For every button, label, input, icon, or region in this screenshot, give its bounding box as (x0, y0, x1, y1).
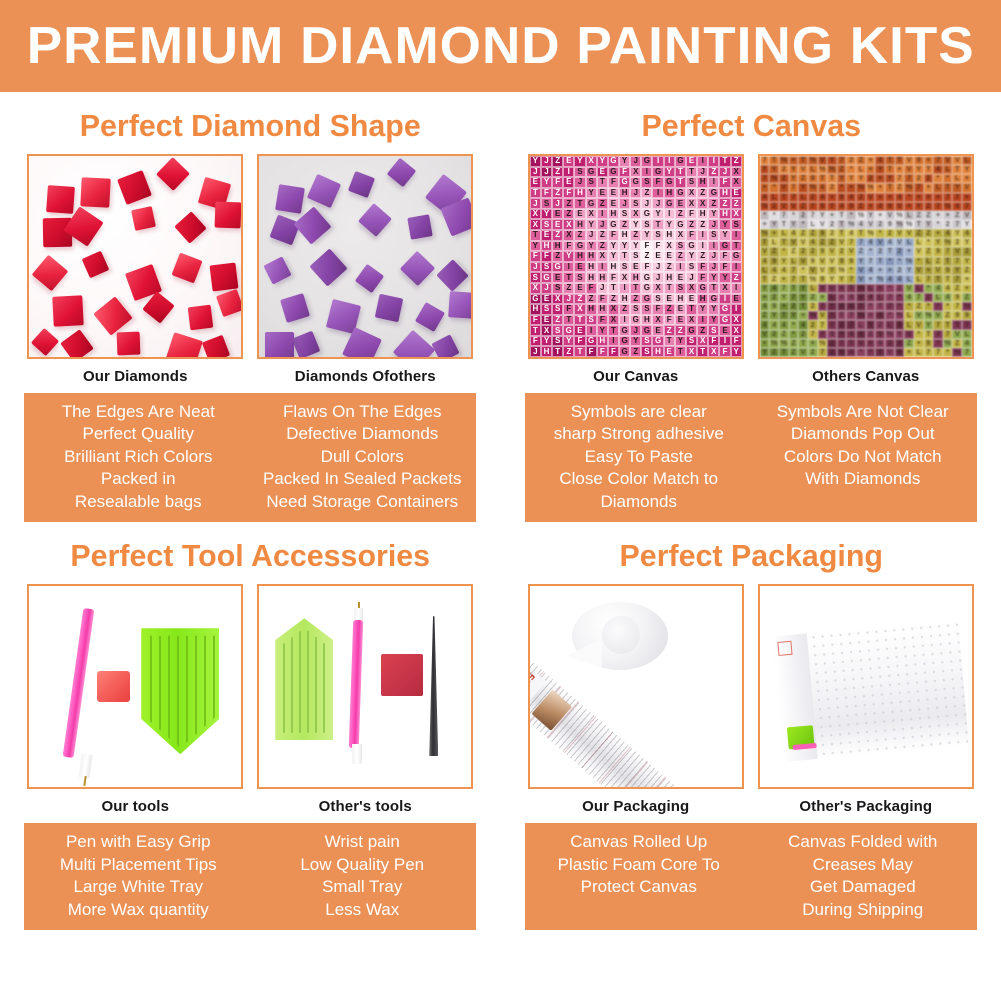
canvas-symbol-cell: T (597, 177, 608, 188)
canvas-symbol-cell: X (686, 198, 697, 209)
canvas-symbol-cell: Y (866, 211, 876, 220)
feature-list-others: Flaws On The EdgesDefective DiamondsDull… (250, 401, 474, 513)
feature-line: Dull Colors (252, 446, 472, 468)
canvas-symbol-cell: 4 (895, 193, 905, 202)
canvas-symbol-cell: J (541, 283, 552, 294)
drill-bead (165, 332, 203, 359)
canvas-symbol-cell: L (789, 257, 799, 266)
canvas-symbol-cell: Z (708, 198, 719, 209)
canvas-symbol-cell: * (943, 174, 953, 183)
canvas-symbol-cell: Y (708, 272, 719, 283)
canvas-symbol-cell: I (697, 315, 708, 326)
canvas-symbol-cell: H (619, 294, 630, 305)
feature-line: Canvas Folded with (753, 831, 973, 853)
canvas-symbol-cell: X (608, 315, 619, 326)
canvas-symbol-cell: * (895, 302, 905, 311)
canvas-symbol-cell: Y (827, 202, 837, 211)
canvas-symbol-cell: H (697, 294, 708, 305)
canvas-symbol-cell: Y (885, 174, 895, 183)
canvas-symbol-cell: H (719, 188, 730, 199)
canvas-symbol-cell: V (933, 266, 943, 275)
canvas-symbol-cell: L (808, 165, 818, 174)
canvas-symbol-cell: % (856, 311, 866, 320)
canvas-symbol-cell: + (866, 156, 876, 165)
canvas-symbol-cell: F (597, 315, 608, 326)
canvas-symbol-cell: T (574, 198, 585, 209)
canvas-symbol-cell: 9 (952, 311, 962, 320)
canvas-symbol-cell: Z (552, 167, 563, 178)
canvas-symbol-cell: % (943, 339, 953, 348)
canvas-symbol-cell: Z (630, 294, 641, 305)
canvas-symbol-cell: X (563, 219, 574, 230)
canvas-symbol-cell: L (904, 211, 914, 220)
canvas-symbol-cell: * (827, 311, 837, 320)
canvas-symbol-cell: L (808, 220, 818, 229)
canvas-symbol-cell: I (619, 315, 630, 326)
canvas-symbol-cell: S (630, 251, 641, 262)
feature-line: Canvas Rolled Up (529, 831, 749, 853)
canvas-symbol-cell: 2 (808, 348, 818, 357)
canvas-symbol-cell: G (619, 325, 630, 336)
canvas-symbol-cell: F (574, 336, 585, 347)
canvas-symbol-cell: Y (827, 156, 837, 165)
canvas-symbol-cell: H (552, 241, 563, 252)
canvas-symbol-cell: G (574, 241, 585, 252)
cell-our-tools: Our tools (27, 584, 243, 823)
canvas-symbol-cell: T (619, 251, 630, 262)
canvas-symbol-cell: V (798, 165, 808, 174)
canvas-symbol-cell: 9 (769, 257, 779, 266)
canvas-symbol-cell: V (952, 330, 962, 339)
canvas-symbol-cell: Y (541, 209, 552, 220)
canvas-symbol-cell: Z (719, 198, 730, 209)
canvas-symbol-cell: + (837, 284, 847, 293)
canvas-symbol-cell: T (798, 302, 808, 311)
canvas-symbol-cell: Y (798, 293, 808, 302)
caption-our-packaging: Our Packaging (528, 789, 744, 823)
canvas-symbol-cell: 2 (808, 247, 818, 256)
canvas-symbol-cell: V (808, 266, 818, 275)
canvas-symbol-cell: H (597, 304, 608, 315)
canvas-symbol-cell: + (904, 202, 914, 211)
canvas-symbol-cell: F (608, 230, 619, 241)
canvas-symbol-cell: I (708, 177, 719, 188)
canvas-symbol-cell: S (686, 336, 697, 347)
canvas-symbol-cell: 7 (933, 320, 943, 329)
canvas-symbol-cell: Z (914, 302, 924, 311)
canvas-symbol-cell: E (574, 325, 585, 336)
canvas-symbol-cell: Z (552, 188, 563, 199)
canvas-symbol-cell: 2 (808, 193, 818, 202)
canvas-symbol-cell: X (731, 325, 742, 336)
canvas-symbol-cell: S (541, 262, 552, 273)
canvas-symbol-cell: V (904, 156, 914, 165)
pink-pen-icon (349, 620, 363, 748)
canvas-symbol-cell: J (530, 198, 541, 209)
canvas-symbol-cell: 9 (808, 257, 818, 266)
canvas-symbol-cell: T (885, 247, 895, 256)
canvas-symbol-cell: 4 (760, 193, 770, 202)
canvas-symbol-cell: I (664, 156, 675, 167)
canvas-symbol-cell: X (574, 304, 585, 315)
canvas-symbol-cell: J (530, 346, 541, 357)
canvas-symbol-cell: Y (686, 251, 697, 262)
canvas-symbol-cell: Y (827, 275, 837, 284)
canvas-symbol-cell: 9 (827, 330, 837, 339)
canvas-symbol-cell: X (608, 304, 619, 315)
canvas-symbol-cell: 7 (789, 293, 799, 302)
canvas-symbol-cell: X (708, 346, 719, 357)
canvas-symbol-cell: 7 (818, 330, 828, 339)
canvas-symbol-cell: Y (914, 202, 924, 211)
feature-line: Low Quality Pen (252, 854, 472, 876)
canvas-symbol-cell: J (652, 198, 663, 209)
canvas-symbol-cell: * (885, 284, 895, 293)
canvas-symbol-cell: X (597, 251, 608, 262)
canvas-symbol-cell: Z (597, 241, 608, 252)
canvas-symbol-cell: F (619, 167, 630, 178)
canvas-symbol-cell: G (563, 325, 574, 336)
canvas-symbol-cell: T (875, 302, 885, 311)
canvas-symbol-cell: 2 (875, 320, 885, 329)
canvas-symbol-cell: G (697, 283, 708, 294)
canvas-symbol-cell: 9 (885, 220, 895, 229)
canvas-symbol-cell: V (846, 247, 856, 256)
canvas-symbol-cell: Y (962, 257, 972, 266)
drill-bead (46, 185, 75, 214)
drill-bead (375, 294, 403, 322)
canvas-symbol-cell: * (914, 330, 924, 339)
canvas-symbol-cell: Z (697, 219, 708, 230)
canvas-symbol-cell: I (619, 283, 630, 294)
canvas-symbol-cell: Z (962, 266, 972, 275)
caption-our-canvas: Our Canvas (528, 359, 744, 393)
canvas-symbol-cell: * (924, 302, 934, 311)
canvas-symbol-cell: X (652, 315, 663, 326)
canvas-symbol-cell: H (608, 262, 619, 273)
canvas-symbol-cell: T (914, 220, 924, 229)
canvas-symbol-cell: E (552, 219, 563, 230)
canvas-symbol-cell: S (574, 272, 585, 283)
canvas-symbol-cell: * (895, 293, 905, 302)
canvas-symbol-cell: 7 (846, 311, 856, 320)
canvas-symbol-cell: Z (641, 251, 652, 262)
canvas-symbol-cell: H (697, 209, 708, 220)
drill-bead (270, 214, 301, 245)
drill-bead (393, 330, 435, 359)
drill-bead (310, 248, 348, 286)
canvas-symbol-cell: Z (895, 183, 905, 192)
canvas-symbol-cell: Y (952, 229, 962, 238)
canvas-symbol-cell: H (719, 209, 730, 220)
canvas-symbol-cell: L (904, 311, 914, 320)
canvas-symbol-cell: G (664, 177, 675, 188)
canvas-symbol-cell: V (895, 202, 905, 211)
feature-line: sharp Strong adhesive (529, 423, 749, 445)
canvas-symbol-cell: Y (719, 230, 730, 241)
wax-square-icon (97, 671, 130, 702)
canvas-symbol-cell: * (943, 302, 953, 311)
canvas-symbol-cell: S (541, 304, 552, 315)
canvas-symbol-cell: V (904, 330, 914, 339)
canvas-symbol-cell: Z (808, 229, 818, 238)
canvas-symbol-cell: + (933, 211, 943, 220)
canvas-symbol-cell: * (837, 183, 847, 192)
canvas-symbol-cell: T (731, 241, 742, 252)
canvas-symbol-cell: % (885, 330, 895, 339)
canvas-symbol-cell: Y (541, 336, 552, 347)
canvas-symbol-cell: H (586, 272, 597, 283)
canvas-symbol-cell: 9 (943, 266, 953, 275)
canvas-symbol-cell: 7 (904, 174, 914, 183)
canvas-symbol-cell: 2 (779, 174, 789, 183)
section-title-tool-accessories: Perfect Tool Accessories (5, 538, 495, 574)
canvas-symbol-cell: V (875, 238, 885, 247)
canvas-symbol-cell: L (904, 320, 914, 329)
canvas-symbol-cell: 2 (952, 238, 962, 247)
canvas-symbol-cell: * (904, 193, 914, 202)
canvas-symbol-cell: L (885, 320, 895, 329)
canvas-symbol-cell: 4 (933, 284, 943, 293)
canvas-symbol-cell: Y (846, 174, 856, 183)
canvas-symbol-cell: X (530, 283, 541, 294)
drill-bead (400, 251, 435, 286)
canvas-symbol-cell: I (675, 262, 686, 273)
canvas-symbol-cell: Z (630, 230, 641, 241)
canvas-symbol-cell: 2 (779, 165, 789, 174)
canvas-symbol-cell: T (827, 174, 837, 183)
feature-line: Flaws On The Edges (252, 401, 472, 423)
canvas-symbol-cell: 4 (962, 229, 972, 238)
caption-our-tools: Our tools (27, 789, 243, 823)
canvas-symbol-cell: 4 (760, 257, 770, 266)
canvas-symbol-cell: Y (798, 183, 808, 192)
canvas-symbol-cell: G (708, 294, 719, 305)
canvas-symbol-cell: + (875, 211, 885, 220)
canvas-symbol-cell: G (719, 315, 730, 326)
canvas-symbol-cell: 4 (866, 266, 876, 275)
canvas-symbol-cell: Y (586, 188, 597, 199)
canvas-symbol-cell: 9 (895, 348, 905, 357)
canvas-symbol-cell: Y (664, 219, 675, 230)
bubble-mailer-icon (773, 620, 969, 762)
canvas-symbol-cell: L (943, 165, 953, 174)
canvas-symbol-cell: J (530, 167, 541, 178)
canvas-symbol-cell: X (630, 209, 641, 220)
canvas-symbol-cell: 7 (924, 348, 934, 357)
canvas-symbol-cell: T (530, 230, 541, 241)
canvas-symbol-cell: Z (952, 284, 962, 293)
drill-bead (215, 202, 242, 229)
canvas-symbol-cell: + (914, 339, 924, 348)
canvas-symbol-cell: * (933, 220, 943, 229)
canvas-symbol-cell: F (641, 262, 652, 273)
canvas-symbol-cell: + (866, 165, 876, 174)
drill-scatter (29, 156, 241, 357)
canvas-symbol-cell: + (933, 229, 943, 238)
canvas-symbol-cell: 7 (808, 202, 818, 211)
canvas-symbol-cell: * (933, 174, 943, 183)
canvas-symbol-cell: 4 (856, 330, 866, 339)
canvas-symbol-cell: J (597, 283, 608, 294)
canvas-symbol-cell: Y (563, 336, 574, 347)
canvas-symbol-cell: * (914, 257, 924, 266)
feature-box-canvas: Symbols are clearsharp Strong adhesiveEa… (525, 393, 977, 522)
drill-bead (210, 263, 239, 292)
drill-bead (358, 203, 392, 237)
feature-line: Pen with Easy Grip (28, 831, 248, 853)
canvas-symbol-cell: Z (789, 339, 799, 348)
canvas-symbol-cell: X (530, 219, 541, 230)
canvas-symbol-cell: 4 (760, 320, 770, 329)
canvas-symbol-cell: L (856, 320, 866, 329)
canvas-symbol-cell: G (641, 325, 652, 336)
canvas-symbol-cell: F (719, 177, 730, 188)
canvas-symbol-cell: Z (943, 311, 953, 320)
canvas-symbol-cell: H (574, 251, 585, 262)
canvas-symbol-cell: Y (586, 241, 597, 252)
canvas-symbol-cell: V (789, 202, 799, 211)
canvas-symbol-cell: Z (789, 348, 799, 357)
canvas-symbol-cell: 4 (856, 220, 866, 229)
canvas-symbol-cell: V (818, 311, 828, 320)
canvas-symbol-cell: * (866, 247, 876, 256)
canvas-symbol-cell: % (769, 339, 779, 348)
canvas-symbol-cell: Z (818, 238, 828, 247)
canvas-symbol-cell: Z (619, 304, 630, 315)
canvas-symbol-cell: 2 (827, 220, 837, 229)
canvas-symbol-cell: X (586, 156, 597, 167)
canvas-symbol-cell: G (619, 346, 630, 357)
canvas-symbol-cell: Y (664, 167, 675, 178)
canvas-symbol-cell: * (846, 211, 856, 220)
canvas-symbol-cell: T (675, 177, 686, 188)
canvas-symbol-cell: Y (924, 220, 934, 229)
canvas-symbol-cell: + (827, 211, 837, 220)
canvas-symbol-cell: L (779, 229, 789, 238)
canvas-symbol-cell: * (856, 348, 866, 357)
canvas-symbol-cell: 2 (769, 293, 779, 302)
canvas-symbol-cell: % (818, 339, 828, 348)
canvas-symbol-cell: Z (856, 202, 866, 211)
wax-square-icon (381, 654, 423, 696)
canvas-symbol-cell: G (675, 219, 686, 230)
canvas-symbol-cell: Z (697, 188, 708, 199)
canvas-symbol-cell: E (563, 177, 574, 188)
canvas-symbol-cell: X (530, 209, 541, 220)
canvas-symbol-cell: X (731, 167, 742, 178)
canvas-symbol-cell: % (943, 238, 953, 247)
canvas-symbol-cell: T (837, 211, 847, 220)
canvas-symbol-cell: 9 (924, 339, 934, 348)
canvas-symbol-cell: T (686, 167, 697, 178)
section-tool-accessories: Perfect Tool Accessories Our tools (0, 522, 501, 930)
feature-line: Need Storage Containers (252, 491, 472, 513)
canvas-symbol-cell: G (641, 272, 652, 283)
canvas-symbol-cell: 4 (808, 238, 818, 247)
canvas-symbol-cell: Y (856, 174, 866, 183)
canvas-symbol-cell: Z (641, 188, 652, 199)
canvas-symbol-cell: Y (597, 325, 608, 336)
canvas-symbol-cell: * (885, 311, 895, 320)
canvas-symbol-cell: * (769, 183, 779, 192)
canvas-symbol-cell: * (789, 211, 799, 220)
canvas-symbol-cell: Z (597, 198, 608, 209)
canvas-symbol-cell: Y (779, 293, 789, 302)
canvas-symbol-cell: Y (530, 156, 541, 167)
canvas-symbol-cell: Z (675, 325, 686, 336)
canvas-symbol-cell: Y (952, 266, 962, 275)
canvas-symbol-cell: % (866, 183, 876, 192)
canvas-symbol-cell: Y (904, 266, 914, 275)
canvas-symbol-cell: Z (675, 209, 686, 220)
canvas-symbol-cell: * (837, 330, 847, 339)
canvas-symbol-cell: * (846, 165, 856, 174)
canvas-symbol-cell: Y (769, 311, 779, 320)
canvas-symbol-cell: 7 (943, 193, 953, 202)
canvas-symbol-cell: S (541, 219, 552, 230)
feature-list-ours: Pen with Easy GripMulti Placement TipsLa… (26, 831, 250, 921)
canvas-symbol-cell: H (630, 272, 641, 283)
canvas-symbol-cell: H (530, 304, 541, 315)
drill-bead (348, 171, 375, 198)
blurred-symbol-grid: 7T%+T%VY72Z+4TTV9+7VVLTY2YVL%%Z*L+YT+VYT… (760, 156, 972, 357)
canvas-symbol-cell: X (686, 315, 697, 326)
canvas-symbol-cell: * (933, 339, 943, 348)
canvas-symbol-cell: + (837, 293, 847, 302)
canvas-symbol-cell: 9 (818, 229, 828, 238)
cell-our-diamonds: Our Diamonds (27, 154, 243, 393)
canvas-symbol-cell: E (675, 315, 686, 326)
canvas-symbol-cell: + (798, 311, 808, 320)
canvas-symbol-cell: V (885, 348, 895, 357)
canvas-symbol-cell: V (856, 339, 866, 348)
canvas-symbol-cell: 4 (846, 293, 856, 302)
canvas-symbol-cell: 2 (875, 247, 885, 256)
canvas-symbol-cell: F (586, 346, 597, 357)
canvas-symbol-cell: E (574, 209, 585, 220)
photo-pair-packaging: 5S-011 Our Packaging (501, 584, 1001, 823)
canvas-symbol-cell: V (760, 330, 770, 339)
canvas-symbol-cell: E (608, 188, 619, 199)
canvas-symbol-cell: * (779, 247, 789, 256)
canvas-symbol-cell: E (541, 230, 552, 241)
canvas-symbol-cell: V (866, 220, 876, 229)
canvas-symbol-cell: 4 (846, 193, 856, 202)
canvas-symbol-cell: + (904, 247, 914, 256)
canvas-symbol-cell: S (652, 230, 663, 241)
cell-other-tools: Other's tools (257, 584, 473, 823)
canvas-symbol-cell: I (586, 325, 597, 336)
canvas-symbol-cell: Y (779, 257, 789, 266)
canvas-symbol-cell: G (719, 241, 730, 252)
canvas-symbol-cell: 9 (875, 339, 885, 348)
canvas-symbol-cell: E (675, 304, 686, 315)
canvas-symbol-cell: 7 (789, 266, 799, 275)
canvas-symbol-cell: % (818, 165, 828, 174)
canvas-symbol-cell: + (875, 193, 885, 202)
canvas-symbol-cell: Z (798, 229, 808, 238)
drill-bead (436, 259, 469, 292)
canvas-symbol-cell: F (719, 251, 730, 262)
feature-list-others: Symbols Are Not ClearDiamonds Pop OutCol… (751, 401, 975, 513)
canvas-symbol-cell: % (837, 348, 847, 357)
canvas-symbol-cell: T (846, 339, 856, 348)
canvas-symbol-cell: G (719, 304, 730, 315)
canvas-symbol-cell: 9 (895, 320, 905, 329)
canvas-symbol-cell: L (914, 348, 924, 357)
canvas-symbol-cell: 7 (933, 202, 943, 211)
